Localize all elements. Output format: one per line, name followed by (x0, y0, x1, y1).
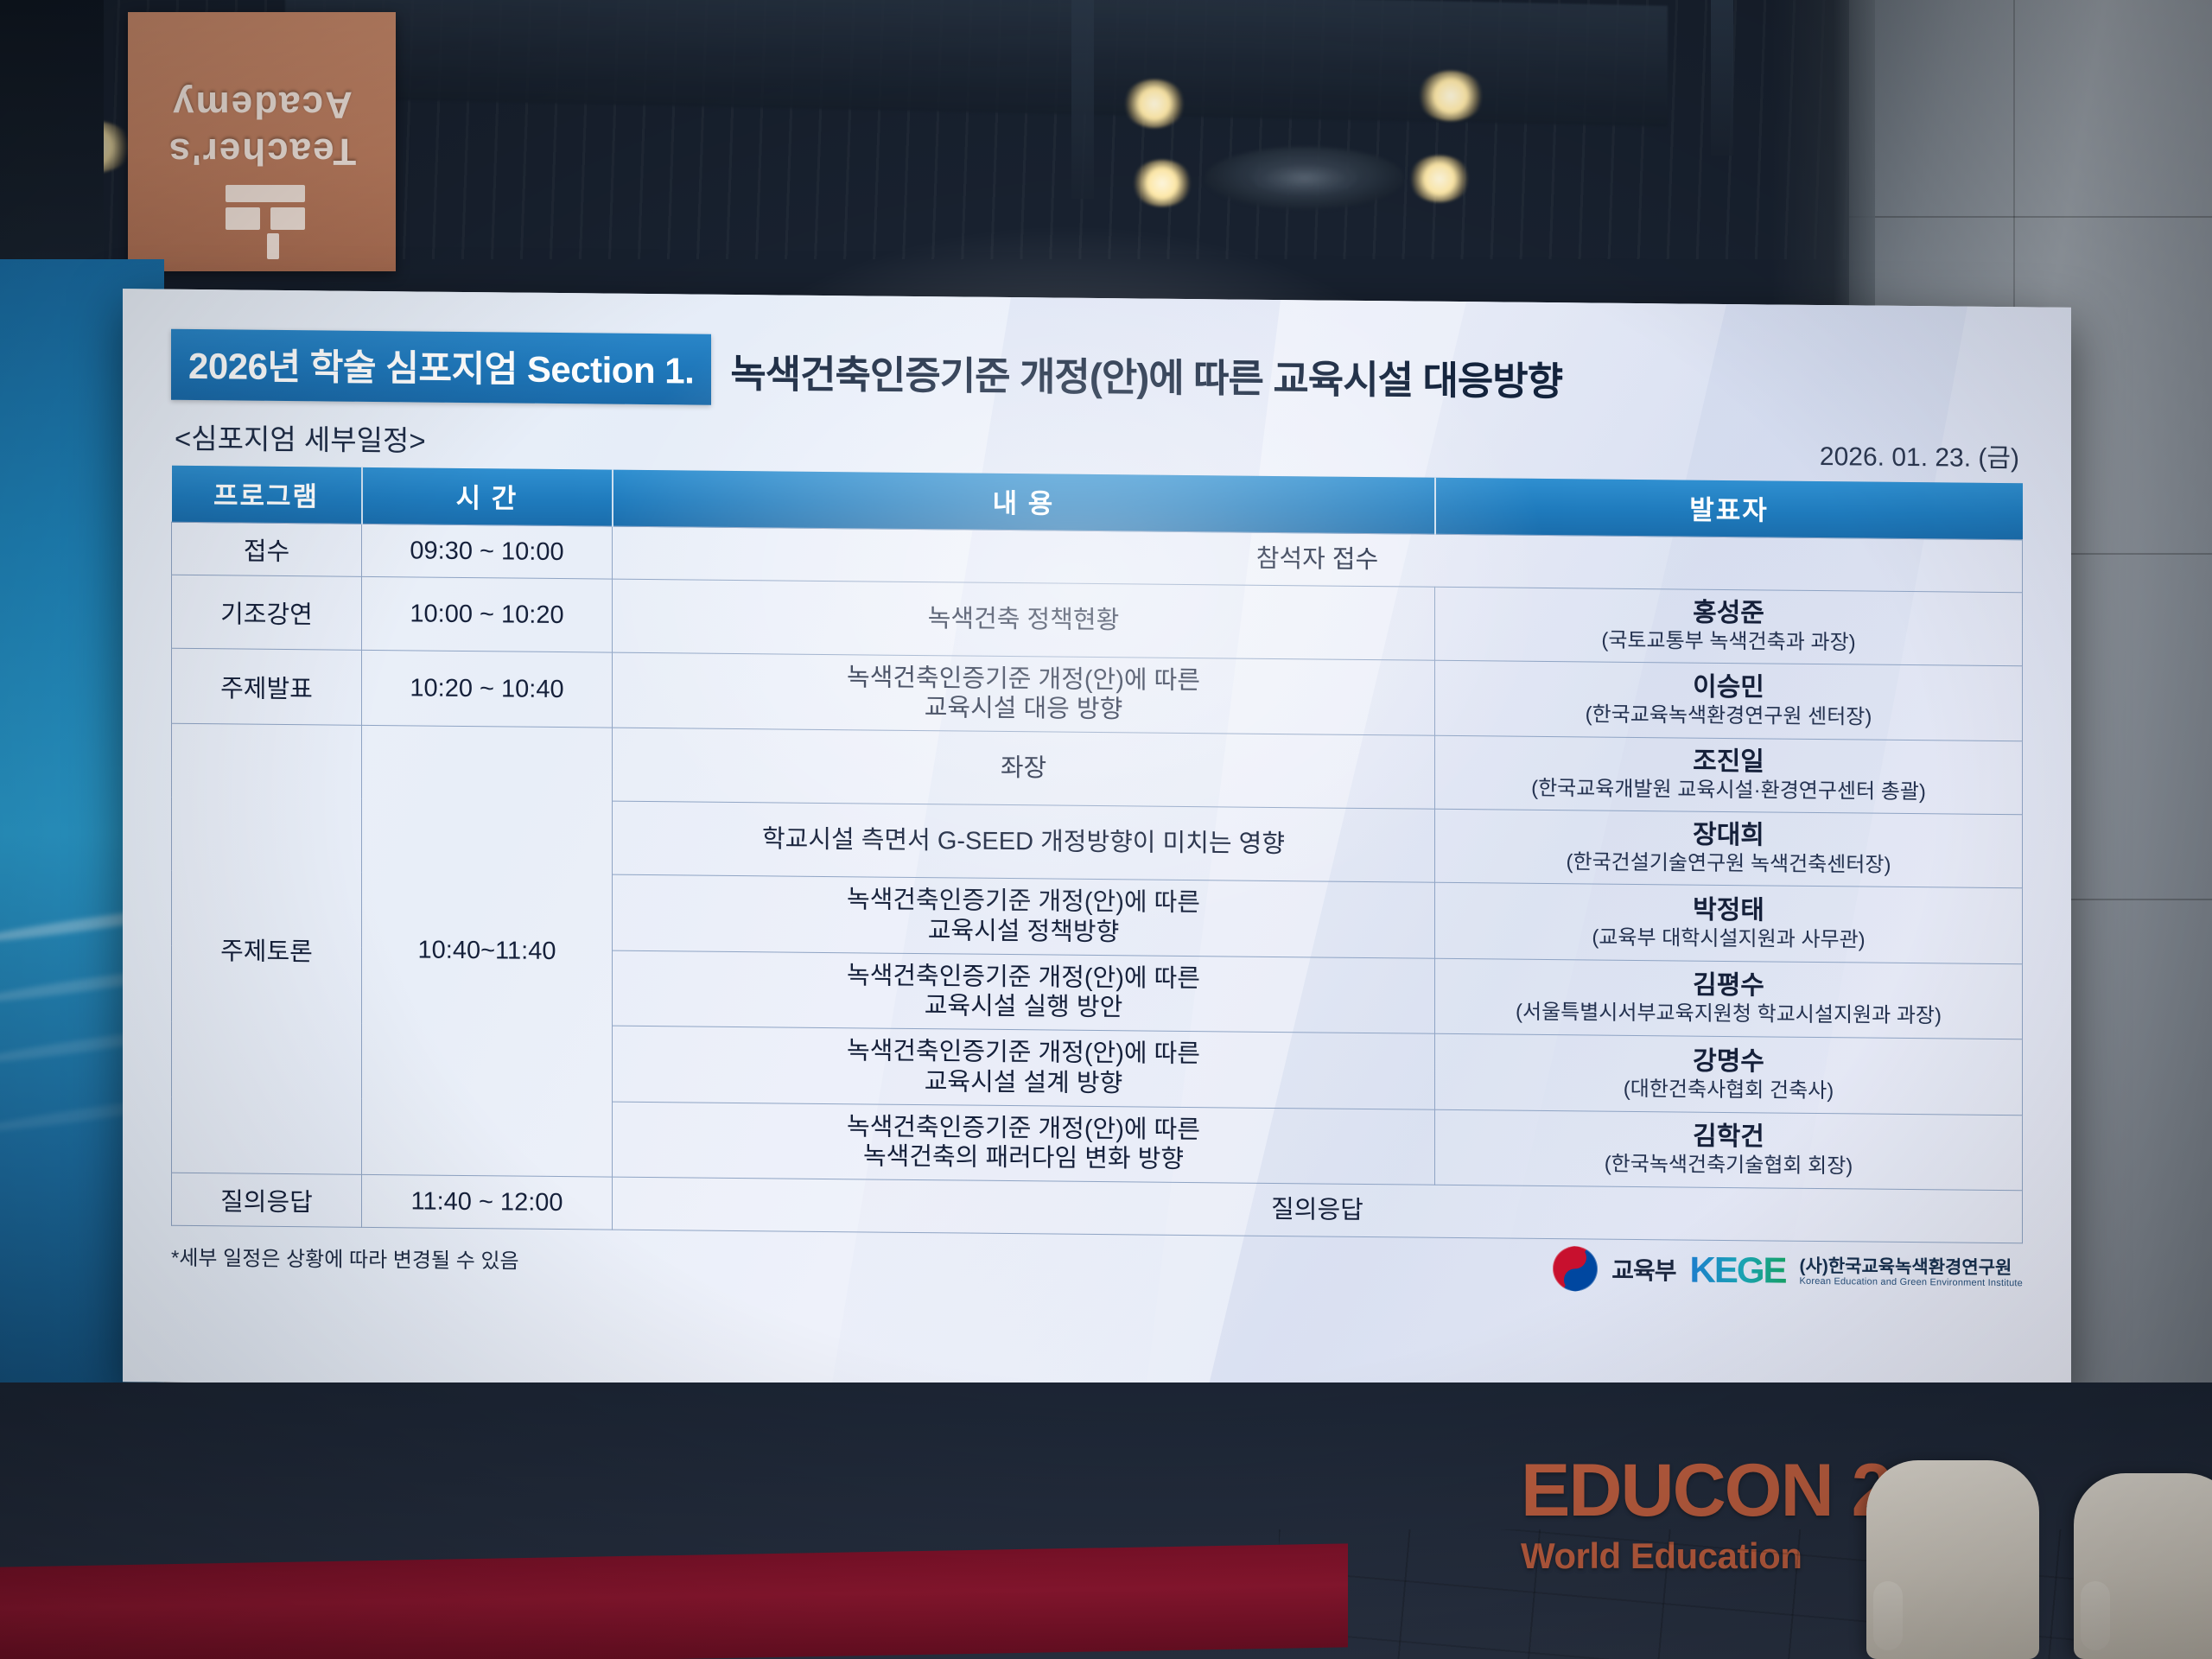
speaker-org: (국토교통부 녹색건축과 과장) (1444, 626, 2013, 658)
academy-sign-line1: Teacher's (168, 130, 356, 173)
kege-logo: KEGE (1689, 1249, 1785, 1292)
downlight-icon (1132, 160, 1192, 207)
cell-content: 녹색건축인증기준 개정(안)에 따른교육시설 정책방향 (613, 875, 1435, 959)
speaker-org: (서울특별시서부교육지원청 학교시설지원과 과장) (1444, 999, 2013, 1030)
cell-speaker: 이승민(한국교육녹색환경연구원 센터장) (1435, 660, 2023, 741)
academy-logo-icon (210, 181, 314, 259)
slide-title-badge: 2026년 학술 심포지엄 Section 1. (171, 329, 711, 405)
slide-title-row: 2026년 학술 심포지엄 Section 1. 녹색건축인증기준 개정(안)에… (171, 329, 2023, 418)
cell-speaker: 강명수(대한건축사협회 건축사) (1435, 1034, 2023, 1116)
armchair (1866, 1460, 2039, 1659)
floor-tiles (1279, 1529, 2212, 1659)
cell-program: 주제토론 (172, 724, 362, 1175)
ceiling-beam (1071, 0, 1094, 199)
cell-content: 녹색건축인증기준 개정(안)에 따른교육시설 실행 방안 (613, 950, 1435, 1034)
cell-program: 접수 (172, 522, 362, 576)
col-header-program: 프로그램 (172, 466, 362, 524)
upper-left-shadow (0, 0, 104, 285)
speaker-org: (대한건축사협회 건축사) (1444, 1074, 2013, 1105)
slide-subtitle: <심포지엄 세부일정> (175, 416, 426, 460)
speaker-org: (한국건설기술연구원 녹색건축센터장) (1444, 849, 2013, 880)
speaker-org: (교육부 대학시설지원과 사무관) (1444, 924, 2013, 955)
col-header-speaker: 발표자 (1435, 478, 2023, 540)
cell-speaker: 조진일(한국교육개발원 교육시설·환경연구센터 총괄) (1435, 736, 2023, 816)
projection-screen: 2026년 학술 심포지엄 Section 1. 녹색건축인증기준 개정(안)에… (123, 289, 2071, 1401)
cell-speaker: 홍성준(국토교통부 녹색건축과 과장) (1435, 587, 2023, 666)
ceiling-diffuser (1205, 147, 1404, 209)
downlight-icon (1123, 79, 1185, 128)
cell-program: 질의응답 (172, 1173, 362, 1227)
teachers-academy-sign: Teacher's Academy (128, 12, 396, 271)
cell-time: 10:40~11:40 (362, 726, 613, 1178)
cell-content: 녹색건축인증기준 개정(안)에 따른녹색건축의 패러다임 변화 방향 (613, 1102, 1435, 1185)
slide-footer: *세부 일정은 상황에 따라 변경될 수 있음 교육부 KEGE (사)한국교육… (171, 1233, 2023, 1296)
speaker-org: (한국교육녹색환경연구원 센터장) (1444, 701, 2013, 732)
slide-footnote: *세부 일정은 상황에 따라 변경될 수 있음 (171, 1240, 519, 1274)
content-line-1: 질의응답 (621, 1189, 2013, 1232)
cell-time: 09:30 ~ 10:00 (362, 524, 613, 579)
slide-content: 2026년 학술 심포지엄 Section 1. 녹색건축인증기준 개정(안)에… (123, 289, 2071, 1401)
cell-content: 학교시설 측면서 G-SEED 개정방향이 미치는 영향 (613, 802, 1435, 883)
cell-program: 주제발표 (172, 648, 362, 726)
cell-program: 기조강연 (172, 575, 362, 650)
ministry-of-education-label: 교육부 (1611, 1252, 1675, 1287)
content-line-1: 좌장 (621, 750, 1426, 787)
slide-date: 2026. 01. 23. (금) (1820, 435, 2019, 474)
col-header-time: 시 간 (362, 467, 613, 526)
speaker-org: (한국교육개발원 교육시설·환경연구센터 총괄) (1444, 775, 2013, 806)
content-line-1: 녹색건축 정책현황 (621, 601, 1426, 639)
cell-speaker: 김학건(한국녹색건축기술협회 회장) (1435, 1109, 2023, 1191)
cell-speaker: 박정태(교육부 대학시설지원과 사무관) (1435, 883, 2023, 964)
photo-scene: Teacher's Academy 2026년 학술 심포지엄 Section … (0, 0, 2212, 1659)
cell-time: 10:00 ~ 10:20 (362, 576, 613, 652)
slide-title-main: 녹색건축인증기준 개정(안)에 따른 교육시설 대응방향 (730, 341, 1562, 405)
schedule-table: 프로그램 시 간 내 용 발표자 접수09:30 ~ 10:00참석자 접수기조… (171, 466, 2023, 1244)
cell-content: 녹색건축인증기준 개정(안)에 따른교육시설 대응 방향 (613, 652, 1435, 736)
taegeuk-icon (1553, 1246, 1598, 1291)
cell-content: 좌장 (613, 728, 1435, 810)
kege-name-english: Korean Education and Green Environment I… (1800, 1276, 2023, 1288)
cell-time: 11:40 ~ 12:00 (362, 1175, 613, 1230)
content-line-1: 참석자 접수 (621, 538, 2013, 582)
academy-sign-line2: Academy (171, 83, 353, 126)
kege-name-block: (사)한국교육녹색환경연구원 Korean Education and Gree… (1800, 1255, 2023, 1288)
cell-speaker: 김평수(서울특별시서부교육지원청 학교시설지원과 과장) (1435, 958, 2023, 1039)
content-line-1: 학교시설 측면서 G-SEED 개정방향이 미치는 영향 (621, 823, 1426, 861)
cell-content: 녹색건축인증기준 개정(안)에 따른교육시설 설계 방향 (613, 1026, 1435, 1109)
cell-content: 녹색건축 정책현황 (613, 579, 1435, 660)
downlight-icon (1417, 71, 1484, 121)
cell-time: 10:20 ~ 10:40 (362, 650, 613, 728)
armchair (2074, 1473, 2212, 1659)
ceiling-beam (1711, 0, 1733, 156)
speaker-org: (한국녹색건축기술협회 회장) (1444, 1150, 2013, 1181)
kege-name-korean: (사)한국교육녹색환경연구원 (1800, 1255, 2023, 1278)
logo-strip: 교육부 KEGE (사)한국교육녹색환경연구원 Korean Education… (1553, 1246, 2023, 1295)
cell-speaker: 장대희(한국건설기술연구원 녹색건축센터장) (1435, 810, 2023, 889)
col-header-content: 내 용 (613, 470, 1435, 535)
downlight-icon (1408, 156, 1471, 202)
